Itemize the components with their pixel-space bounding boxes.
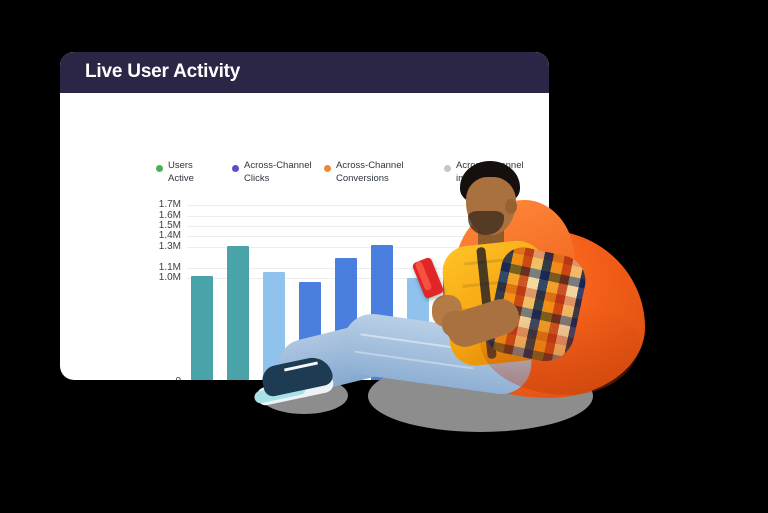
y-axis-tick-label: 1.3M [141, 241, 181, 252]
legend-dot-icon [232, 165, 239, 172]
y-axis-tick-label: 1.6M [141, 210, 181, 221]
hero-photo [250, 155, 650, 455]
ear [505, 199, 517, 214]
y-axis-tick-label: 1.0M [141, 272, 181, 283]
chart-bar[interactable] [191, 276, 213, 380]
y-axis-tick-label: 1.1M [141, 262, 181, 273]
y-axis-tick-label: 1.7M [141, 199, 181, 210]
screenshot-stage: Live User Activity UsersActive Across-Ch… [0, 0, 768, 513]
y-axis-tick-label: 1.4M [141, 230, 181, 241]
y-axis-tick-label: 0 [141, 376, 181, 380]
legend-dot-icon [156, 165, 163, 172]
chart-bar[interactable] [227, 246, 249, 380]
legend-item-label: UsersActive [168, 159, 256, 185]
hand [442, 311, 470, 337]
page-title: Live User Activity [85, 61, 240, 83]
y-axis-tick-label: 1.5M [141, 220, 181, 231]
